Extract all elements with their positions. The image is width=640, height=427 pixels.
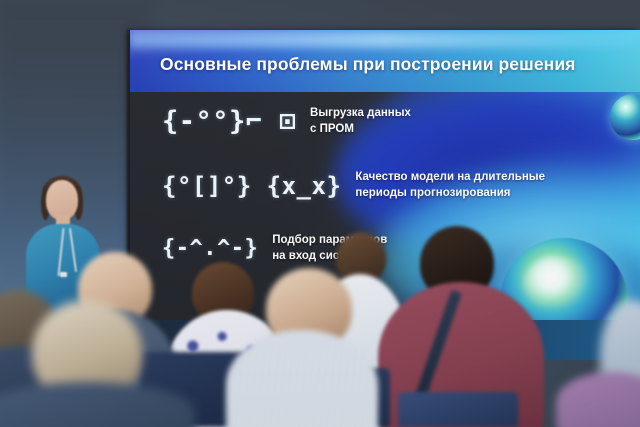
attendee-torso bbox=[0, 382, 195, 427]
chair-back bbox=[398, 392, 518, 427]
attendee-striped-shirt-man bbox=[232, 268, 372, 427]
band-light-streak bbox=[130, 32, 640, 48]
attendee-torso bbox=[556, 372, 640, 427]
slide-row-1: {-°°}⌐ ⊡ Выгрузка данных с ПРОМ bbox=[162, 106, 411, 138]
attendee-purple-right bbox=[556, 372, 640, 427]
ascii-face-surprised-and-dead-icon: {°[]°} {x_x} bbox=[162, 172, 341, 200]
slide-row-2-label: Качество модели на длительные периоды пр… bbox=[355, 170, 545, 202]
attendee-blonde-foreground bbox=[0, 300, 190, 427]
speaker-head bbox=[46, 180, 78, 220]
slide-title: Основные проблемы при построении решения bbox=[160, 54, 576, 75]
slide-row-2: {°[]°} {x_x} Качество модели на длительн… bbox=[162, 170, 545, 202]
ascii-face-bracket-printer-icon: {-°°}⌐ ⊡ bbox=[162, 106, 296, 137]
presentation-photo: Основные проблемы при построении решения… bbox=[0, 0, 640, 427]
ascii-face-cat-icon: {-^.^-} bbox=[162, 236, 258, 261]
slide-row-1-label: Выгрузка данных с ПРОМ bbox=[310, 106, 411, 138]
attendee-torso bbox=[226, 330, 378, 427]
